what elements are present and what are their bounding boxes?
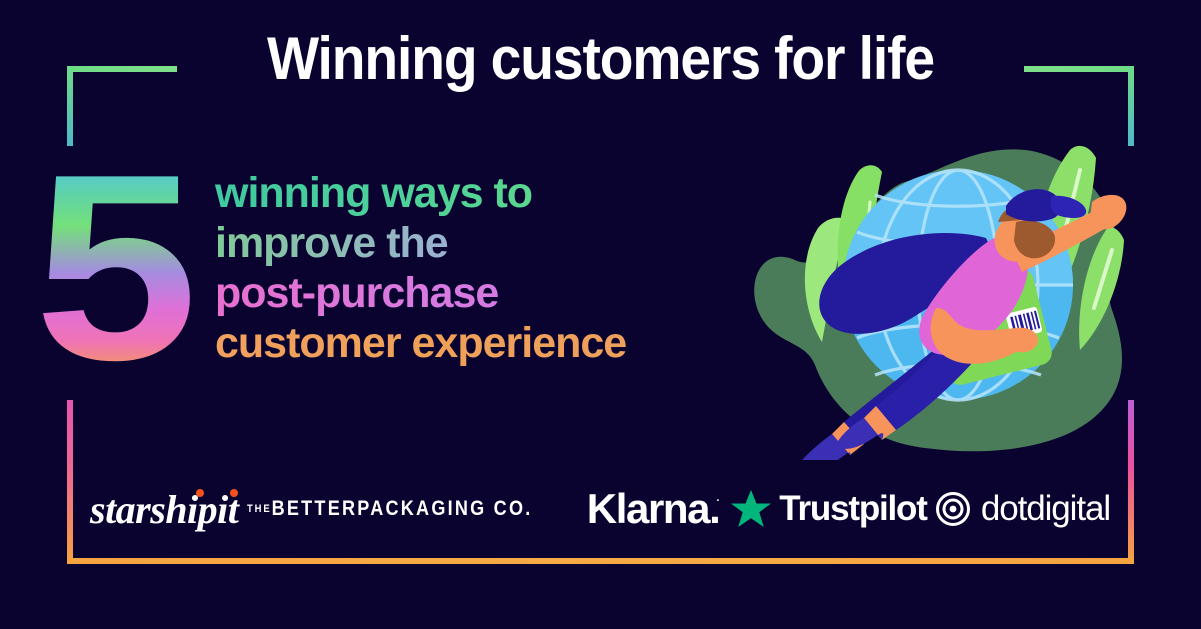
logo-klarna-trademark: ·: [716, 495, 720, 507]
logo-trustpilot-wordmark: Trustpilot: [779, 489, 926, 529]
target-icon: [935, 491, 971, 527]
hero-number: 5: [34, 152, 198, 383]
hero-subheadline: winning ways to improve the post-purchas…: [215, 168, 626, 368]
logo-dotdigital-wordmark: dotdigital: [981, 489, 1110, 529]
star-icon: [731, 489, 771, 529]
page-title: Winning customers for life: [48, 24, 1153, 93]
logo-starshipit[interactable]: starshipit: [90, 486, 238, 533]
subheadline-line-3: post-purchase: [215, 268, 626, 318]
starshipit-dot-icon-2: [230, 489, 238, 497]
logo-trustpilot[interactable]: Trustpilot: [731, 489, 926, 529]
better-packaging-line-3: PACKAGING CO.: [357, 497, 532, 522]
better-packaging-line-1: THE: [247, 503, 272, 516]
logo-klarna[interactable]: Klarna. ·: [587, 485, 723, 533]
logo-starshipit-wordmark: starshipit: [90, 486, 238, 533]
frame-bottom-right-horizontal: [534, 558, 1134, 564]
logo-dotdigital[interactable]: dotdigital: [935, 489, 1110, 529]
hero-hand-fist: [1090, 195, 1126, 229]
poster-canvas: Winning customers for life 5 winning way…: [0, 0, 1201, 629]
subheadline-line-1: winning ways to: [215, 168, 626, 218]
logo-better-packaging-co[interactable]: THE BETTER PACKAGING CO.: [247, 497, 532, 522]
better-packaging-line-2: BETTER: [271, 497, 357, 522]
partner-logo-row: starshipit THE BETTER PACKAGING CO. Klar…: [90, 470, 1110, 548]
starshipit-dot-icon-1: [196, 489, 204, 497]
hero-illustration: [740, 110, 1160, 460]
subheadline-line-2: improve the: [215, 218, 626, 268]
frame-bottom-left-vertical: [67, 400, 73, 564]
logo-klarna-wordmark: Klarna.: [587, 485, 720, 533]
subheadline-line-4: customer experience: [215, 318, 626, 368]
